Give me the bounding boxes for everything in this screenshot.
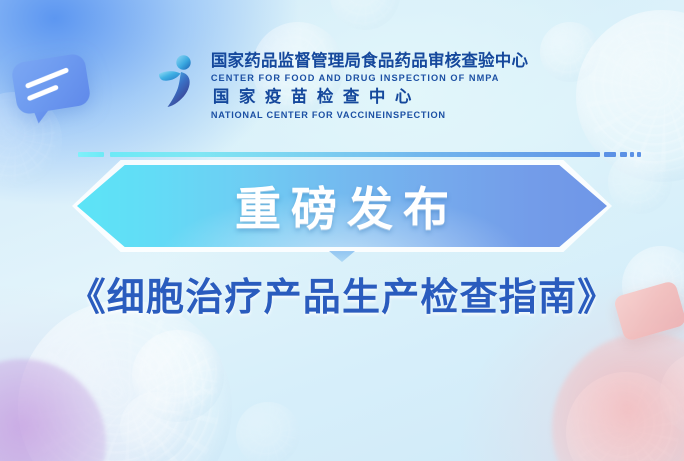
cell-sphere <box>120 392 190 461</box>
ribbon-dash-mark <box>637 152 641 157</box>
org-name-cn-primary: 国家药品监督管理局食品药品审核查验中心 <box>211 52 528 69</box>
cell-sphere <box>18 300 232 461</box>
ribbon-notch <box>329 251 355 262</box>
nmpa-person-logo-icon <box>156 53 198 115</box>
poster-canvas: 国家药品监督管理局食品药品审核查验中心 CENTER FOR FOOD AND … <box>0 0 684 461</box>
poster-subtitle: 《细胞治疗产品生产检查指南》 <box>0 266 684 321</box>
org-name-en-primary: CENTER FOR FOOD AND DRUG INSPECTION OF N… <box>211 73 528 84</box>
cell-sphere <box>566 372 684 461</box>
banner-title: 重磅发布 <box>72 160 612 252</box>
ribbon-dash-mark <box>630 152 634 157</box>
org-name-en-secondary: NATIONAL CENTER FOR VACCINEINSPECTION <box>211 110 528 121</box>
pink-blob-decoration <box>552 333 684 461</box>
banner-ribbon: 重磅发布 <box>72 160 612 252</box>
purple-blob-decoration <box>0 359 106 461</box>
cell-sphere <box>132 330 224 422</box>
ribbon-topline <box>110 152 600 157</box>
ribbon-dash-mark <box>620 152 627 157</box>
organisation-names: 国家药品监督管理局食品药品审核查验中心 CENTER FOR FOOD AND … <box>211 52 528 120</box>
org-name-cn-secondary: 国家疫苗检查中心 <box>211 88 528 105</box>
ribbon-dash-mark <box>604 152 616 157</box>
ribbon-topline-segment <box>78 152 104 157</box>
poster-header: 国家药品监督管理局食品药品审核查验中心 CENTER FOR FOOD AND … <box>0 52 684 120</box>
cell-sphere <box>660 352 684 436</box>
cell-sphere <box>608 150 672 214</box>
cell-sphere <box>236 402 300 461</box>
cell-sphere <box>330 0 400 30</box>
